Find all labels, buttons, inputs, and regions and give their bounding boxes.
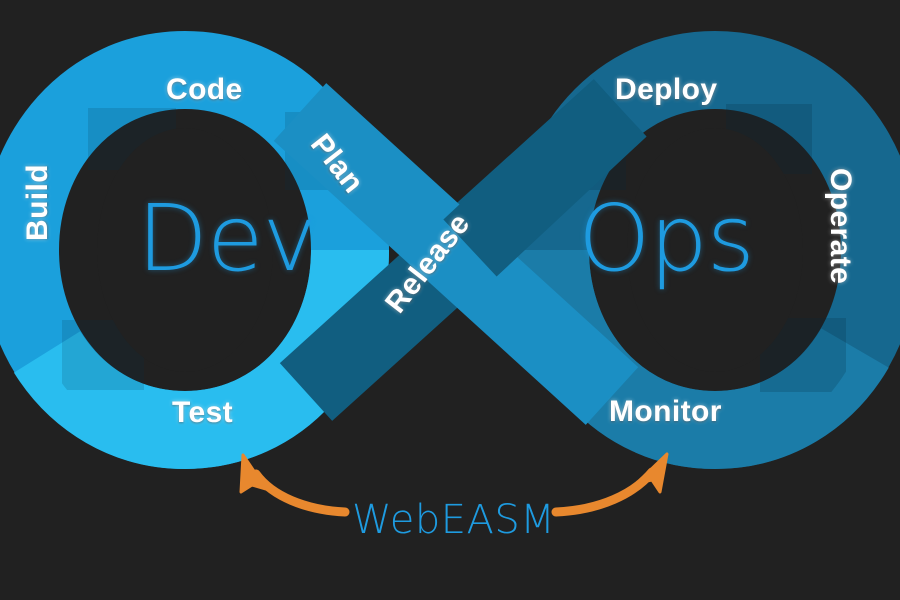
stage-label-code[interactable]: Code <box>166 73 243 107</box>
stage-label-deploy[interactable]: Deploy <box>615 73 717 107</box>
stage-label-monitor[interactable]: Monitor <box>609 395 722 429</box>
caption-webeasm: WebEASM <box>352 497 555 543</box>
devops-diagram: Code Build Test Plan Deploy Operate Moni… <box>0 0 900 600</box>
stage-label-build[interactable]: Build <box>21 164 55 241</box>
arrow-to-test-shaft <box>256 474 345 512</box>
ops-word: Ops <box>578 185 754 292</box>
arrow-to-monitor-shaft <box>556 472 652 512</box>
arrow-to-test-head <box>241 455 266 492</box>
stage-label-operate[interactable]: Operate <box>823 168 857 284</box>
dev-word: Dev <box>137 185 316 292</box>
stage-label-test[interactable]: Test <box>172 396 233 430</box>
